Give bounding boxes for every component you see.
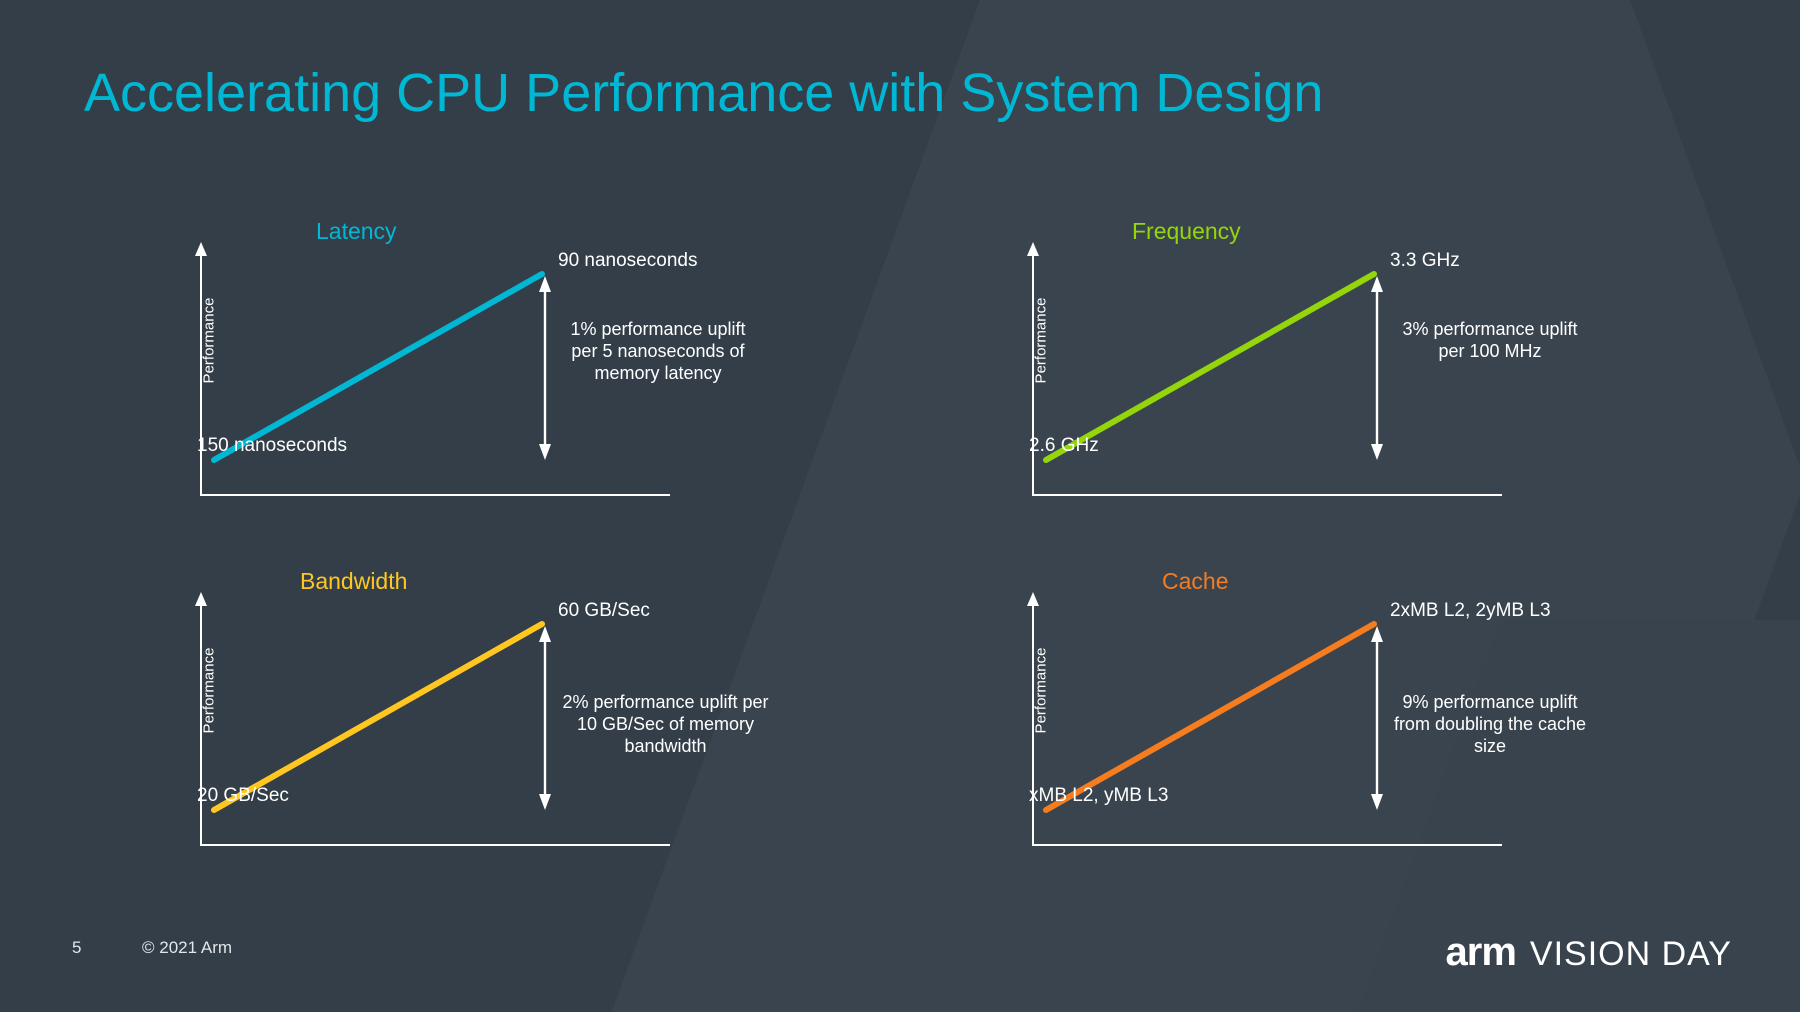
start-value-label-latency: 150 nanoseconds bbox=[197, 435, 347, 457]
end-value-label-latency: 90 nanoseconds bbox=[558, 250, 697, 272]
start-value-label-frequency: 2.6 GHz bbox=[1029, 435, 1099, 457]
uplift-note-latency: 1% performance uplift per 5 nanoseconds … bbox=[568, 319, 748, 385]
uplift-note-frequency: 3% performance uplift per 100 MHz bbox=[1390, 319, 1590, 363]
slide-canvas: Accelerating CPU Performance with System… bbox=[0, 0, 1800, 1012]
uplift-arrow-frequency bbox=[1032, 232, 1512, 502]
end-value-label-cache: 2xMB L2, 2yMB L3 bbox=[1390, 600, 1551, 622]
chart-panel-bandwidth: Performance Bandwidth 60 GB/Sec 20 GB/Se… bbox=[200, 582, 680, 852]
uplift-note-cache: 9% performance uplift from doubling the … bbox=[1390, 692, 1590, 758]
background-diagonal-band-dark bbox=[1630, 0, 1800, 1012]
brand-lockup: arm VISION DAY bbox=[1446, 930, 1732, 975]
end-value-label-frequency: 3.3 GHz bbox=[1390, 250, 1460, 272]
start-value-label-cache: xMB L2, yMB L3 bbox=[1029, 785, 1168, 807]
start-value-label-bandwidth: 20 GB/Sec bbox=[197, 785, 289, 807]
end-value-label-bandwidth: 60 GB/Sec bbox=[558, 600, 650, 622]
arm-logo: arm bbox=[1446, 930, 1516, 975]
chart-panel-cache: Performance Cache 2xMB L2, 2yMB L3 xMB L… bbox=[1032, 582, 1512, 852]
uplift-note-bandwidth: 2% performance uplift per 10 GB/Sec of m… bbox=[558, 692, 773, 758]
chart-panel-latency: Performance Latency 90 nanoseconds 150 n… bbox=[200, 232, 680, 502]
background-diagonal-band-light bbox=[612, 0, 1800, 1012]
page-title: Accelerating CPU Performance with System… bbox=[84, 62, 1323, 124]
page-number: 5 bbox=[72, 938, 81, 958]
copyright-notice: © 2021 Arm bbox=[142, 938, 232, 958]
vision-day-wordmark: VISION DAY bbox=[1530, 935, 1732, 974]
chart-panel-frequency: Performance Frequency 3.3 GHz 2.6 GHz 3%… bbox=[1032, 232, 1512, 502]
